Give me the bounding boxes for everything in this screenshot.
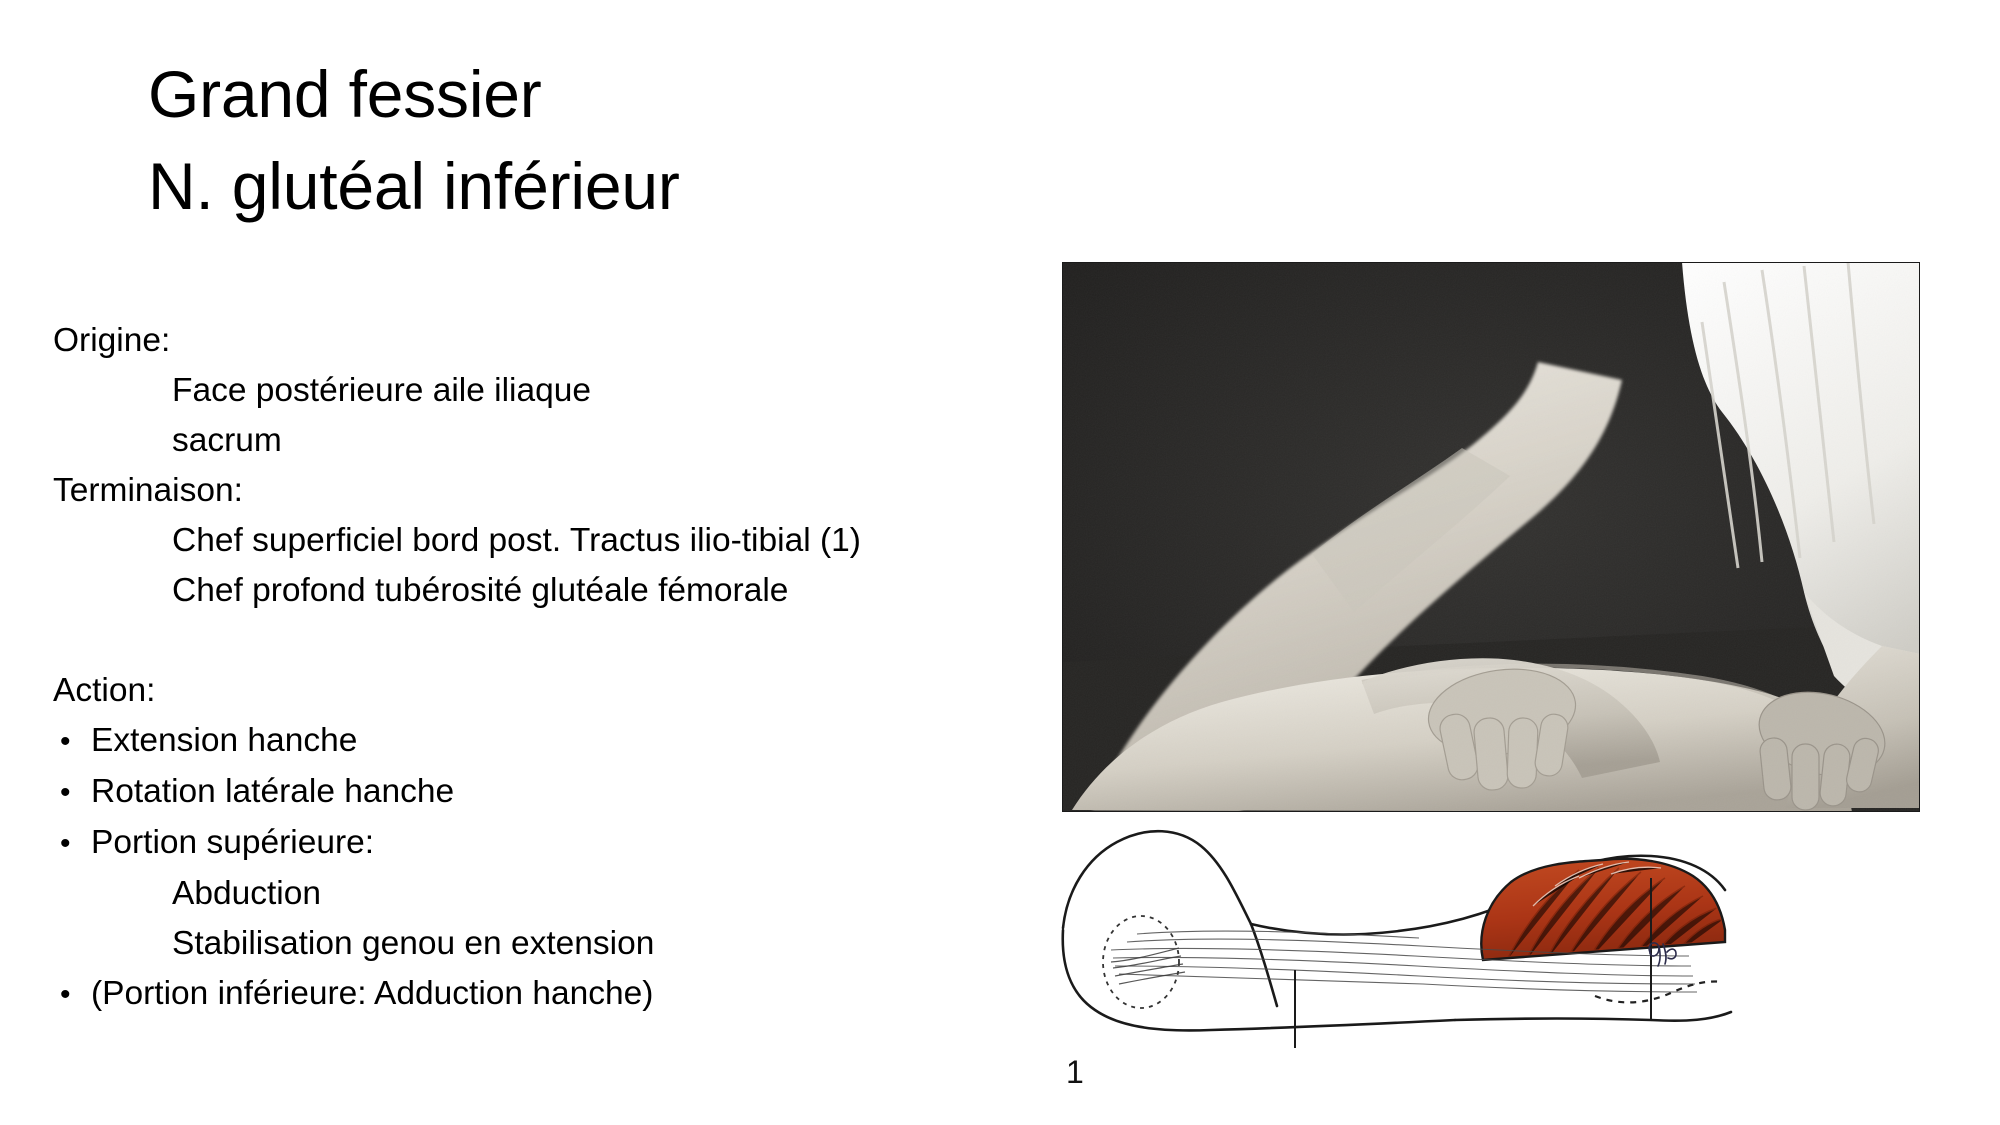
body-spacer [53,616,1063,666]
action-subitem-0: Abduction [53,869,1063,919]
origine-item-0: Face postérieure aile iliaque [53,366,1063,416]
origine-item-1: sacrum [53,416,1063,466]
anatomical-drawing [1055,820,1745,1050]
bullet-marker-icon: • [53,970,91,1020]
terminaison-item-1: Chef profond tubérosité glutéale fémoral… [53,566,1063,616]
body-content: Origine: Face postérieure aile iliaque s… [53,316,1063,1020]
action-bullet-1: Rotation latérale hanche [91,767,454,817]
bullet-marker-icon: • [53,717,91,767]
terminaison-label: Terminaison: [53,466,1063,516]
slide-canvas: Grand fessier N. glutéal inférieur Origi… [0,0,2000,1125]
origine-label: Origine: [53,316,1063,366]
list-item: • Portion supérieure: [53,818,1063,869]
action-bullet-3: (Portion inférieure: Adduction hanche) [91,969,653,1019]
list-item: • (Portion inférieure: Adduction hanche) [53,969,1063,1020]
anatomical-drawing-graphic [1055,820,1745,1050]
list-item: • Extension hanche [53,716,1063,767]
action-bullet-2: Portion supérieure: [91,818,374,868]
terminaison-item-0: Chef superficiel bord post. Tractus ilio… [53,516,1063,566]
clinical-photo [1062,262,1920,812]
bullet-marker-icon: • [53,768,91,818]
clinical-photo-graphic [1062,262,1920,812]
action-label: Action: [53,666,1063,716]
figure-number: 1 [1066,1052,1084,1092]
title-line-2: N. glutéal inférieur [148,140,1148,232]
bullet-marker-icon: • [53,819,91,869]
action-bullet-0: Extension hanche [91,716,357,766]
list-item: • Rotation latérale hanche [53,767,1063,818]
page-title: Grand fessier N. glutéal inférieur [148,48,1148,232]
title-line-1: Grand fessier [148,48,1148,140]
action-subitem-1: Stabilisation genou en extension [53,919,1063,969]
